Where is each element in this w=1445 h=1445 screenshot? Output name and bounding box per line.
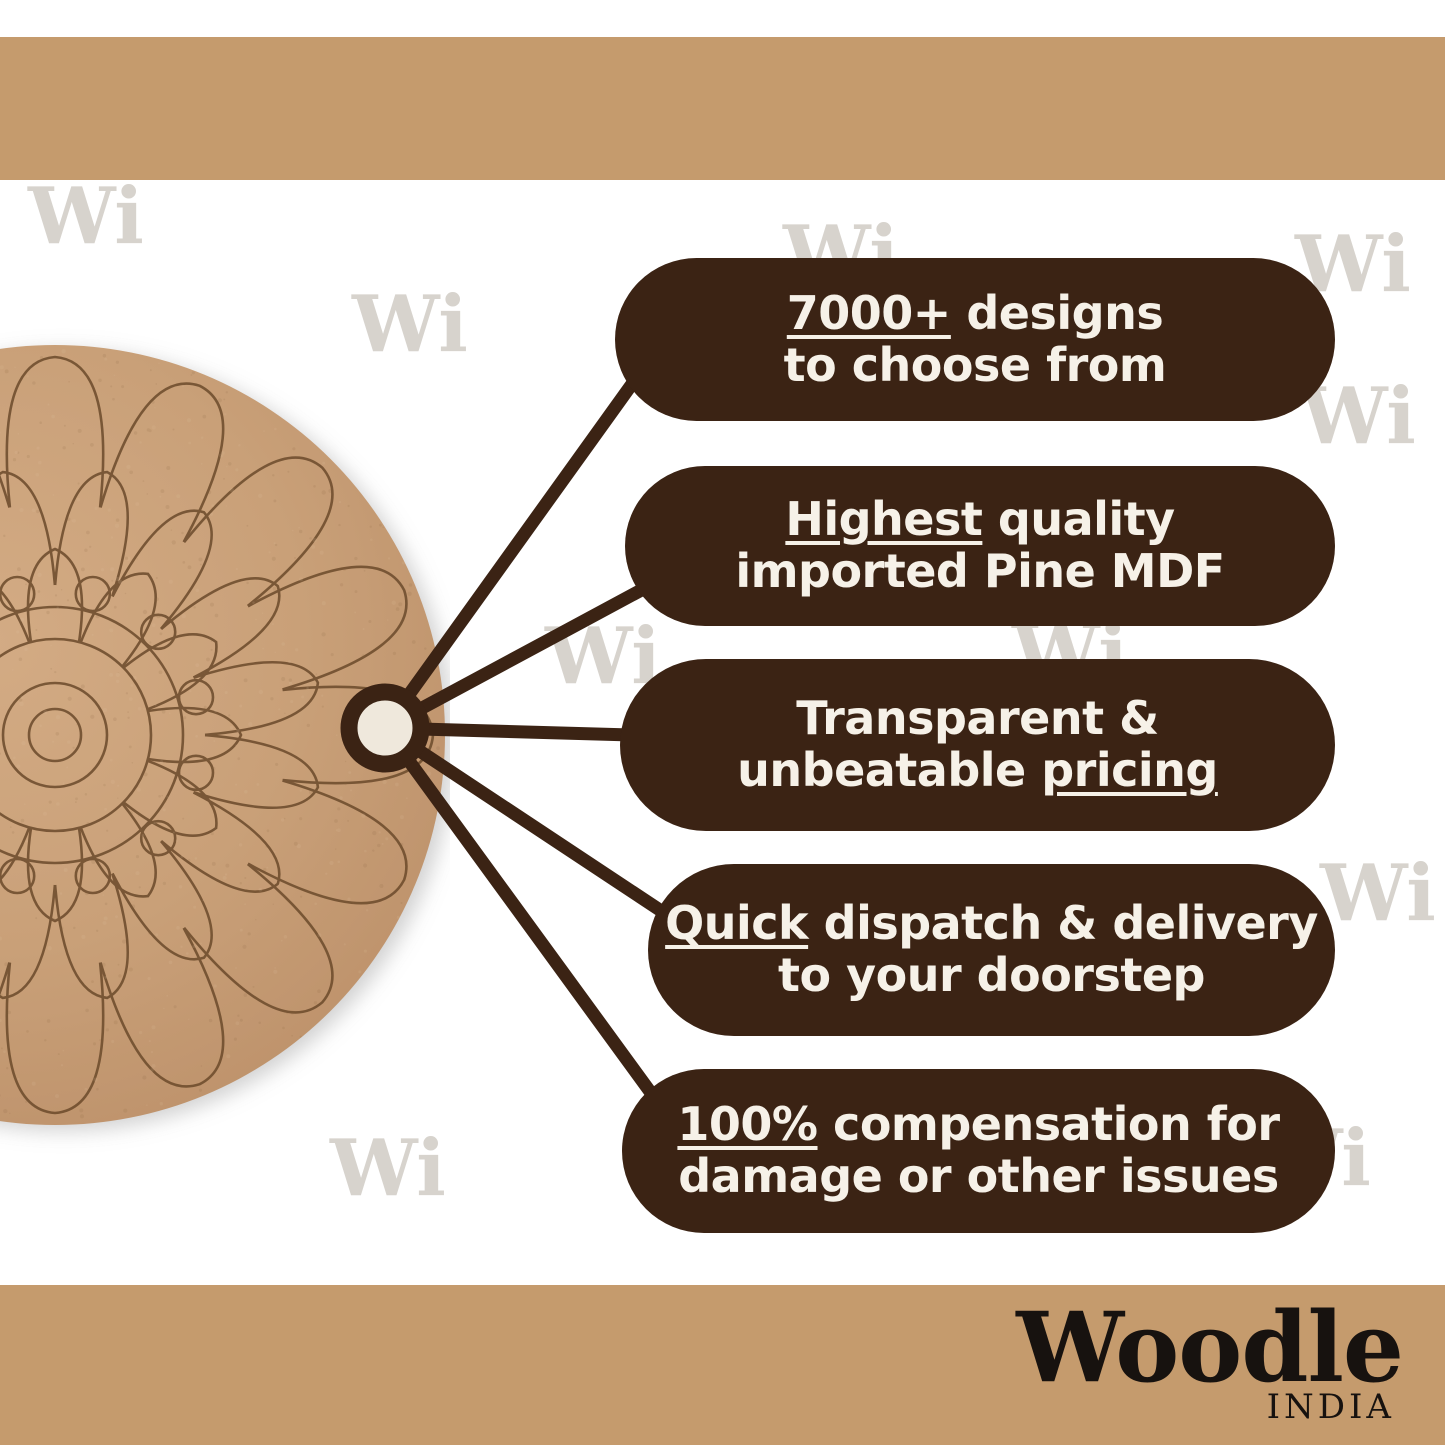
usp-line-1: Quick dispatch & delivery: [665, 898, 1318, 950]
usp-line-1-rest: dispatch & delivery: [808, 896, 1318, 950]
usp-highlight: pricing: [1041, 743, 1218, 797]
connector-line-1: [385, 345, 660, 728]
usp-line-2: imported Pine MDF: [735, 546, 1224, 598]
usp-line-2: to choose from: [784, 340, 1167, 392]
usp-highlight: Highest: [785, 492, 982, 546]
header-band: [0, 37, 1445, 180]
usp-highlight: 7000+: [787, 286, 951, 340]
infographic-canvas: WiWiWiWiWiWiWiWiWiWi: [0, 0, 1445, 1445]
connector-line-2: [385, 580, 660, 728]
center-node: [349, 692, 421, 764]
usp-badge-quality[interactable]: Highest quality imported Pine MDF: [625, 466, 1335, 626]
usp-line-1-rest: compensation for: [818, 1097, 1280, 1151]
usp-line-2: to your doorstep: [778, 950, 1205, 1002]
usp-line-2: unbeatable pricing: [737, 745, 1218, 797]
usp-badge-pricing[interactable]: Transparent & unbeatable pricing: [620, 659, 1335, 831]
usp-line-2-pre: unbeatable: [737, 743, 1041, 797]
brand-logo: Woodle INDIA: [1016, 1300, 1403, 1424]
usp-line-1: 100% compensation for: [677, 1099, 1279, 1151]
usp-line-1: Highest quality: [785, 494, 1174, 546]
usp-highlight: Quick: [665, 896, 808, 950]
usp-line-1-rest: quality: [982, 492, 1174, 546]
usp-line-1: Transparent &: [796, 693, 1158, 745]
usp-highlight: 100%: [677, 1097, 817, 1151]
usp-line-1-rest: designs: [951, 286, 1163, 340]
brand-name: Woodle: [1016, 1300, 1403, 1396]
usp-badge-compensation[interactable]: 100% compensation for damage or other is…: [622, 1069, 1335, 1233]
usp-line-1: 7000+ designs: [787, 288, 1163, 340]
usp-line-2: damage or other issues: [678, 1151, 1278, 1203]
usp-badge-designs[interactable]: 7000+ designs to choose from: [615, 258, 1335, 421]
usp-badge-dispatch[interactable]: Quick dispatch & delivery to your doorst…: [648, 864, 1335, 1036]
